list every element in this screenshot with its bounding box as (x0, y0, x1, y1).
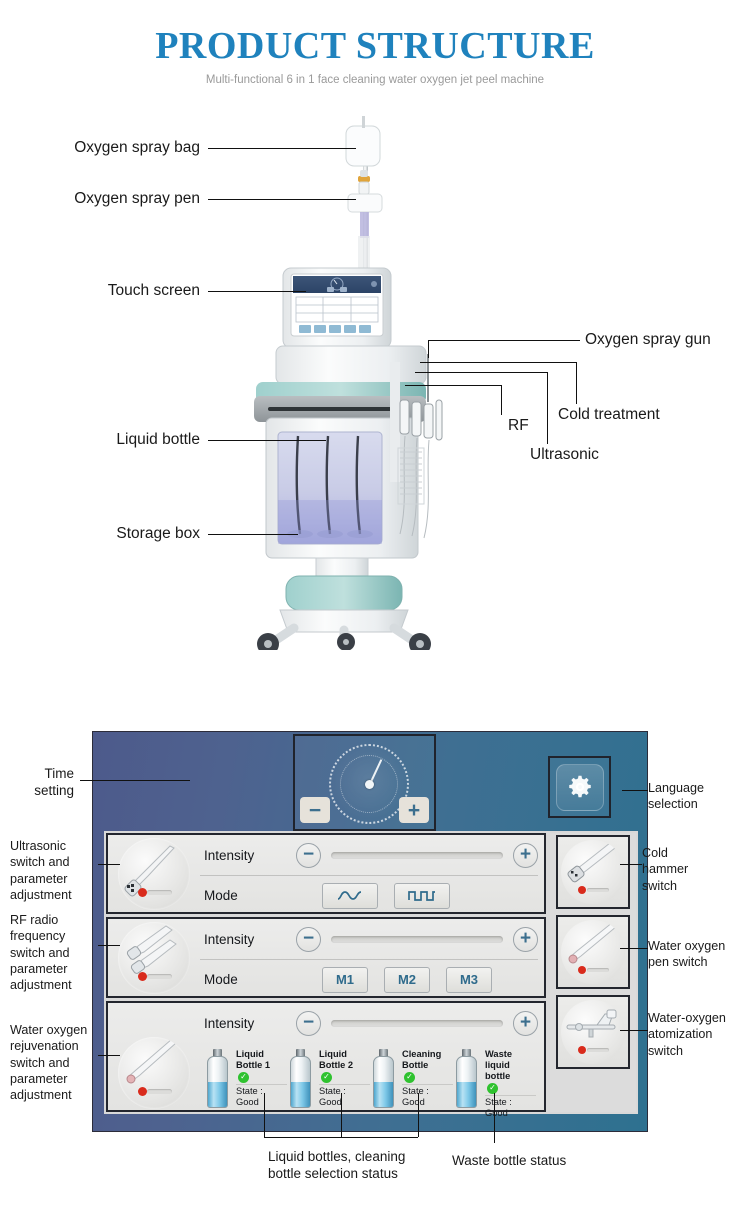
ultrasonic-switch-knob[interactable] (118, 838, 190, 910)
leader-bottle-2-v (341, 1093, 342, 1137)
bottle-name: Liquid Bottle 2 (319, 1049, 370, 1071)
language-selection-group (548, 756, 611, 818)
water-oxygen-atomization-switch-button[interactable] (556, 995, 630, 1069)
bottle-fill (457, 1082, 476, 1107)
diagram-label-storage-box: Storage box (10, 524, 200, 544)
ultrasonic-mode-sine-button[interactable] (322, 883, 378, 909)
bottle-name: Waste liquid bottle (485, 1049, 536, 1082)
panel-annotation-rf-switch: RF radio frequency switch and parameter … (10, 912, 102, 994)
ultrasonic-intensity-row: Intensity − + (200, 835, 538, 875)
bottle-status-group: Liquid Bottle 1 ✓ State : Good (200, 1049, 540, 1108)
bottle-graphic (453, 1049, 480, 1108)
rf-switch-knob[interactable] (118, 922, 190, 994)
panel-annotation-bottle-selection-status: Liquid bottles, cleaning bottle selectio… (268, 1148, 448, 1183)
knob-slot (147, 890, 172, 895)
panel-annotation-water-oxygen-switch: Water oxygen rejuvenation switch and par… (10, 1022, 102, 1104)
water-oxygen-switch-knob[interactable] (118, 1037, 190, 1109)
water-oxygen-intensity-row: Intensity − + (200, 1003, 538, 1043)
time-decrease-button[interactable]: − (300, 797, 330, 823)
language-selection-button[interactable] (556, 764, 604, 811)
knob-indicator-dot (138, 1087, 147, 1096)
knob-slot (587, 888, 609, 892)
water-oxygen-pen-knob (561, 920, 625, 984)
water-oxygen-intensity-label: Intensity (200, 1016, 296, 1031)
cold-hammer-knob (561, 840, 625, 904)
leader-oxygen-spray-bag (208, 148, 356, 149)
cold-hammer-handpiece-icon (561, 840, 625, 904)
leader-touch-screen (208, 291, 306, 292)
leader-language-selection (622, 790, 648, 791)
knob-indicator-dot (578, 886, 586, 894)
leader-ultrasonic-v (547, 372, 548, 444)
rf-intensity-label: Intensity (200, 932, 296, 947)
bottle-body (207, 1056, 228, 1108)
dial-hub (365, 780, 374, 789)
leader-cleaning-bottle-v (418, 1093, 419, 1137)
bottle-graphic (204, 1049, 231, 1108)
panel-annotation-ultrasonic-switch: Ultrasonic switch and parameter adjustme… (10, 838, 102, 903)
rf-intensity-row: Intensity − + (200, 919, 538, 959)
knob-slot (587, 1048, 609, 1052)
leader-cold-hammer-switch (620, 864, 642, 865)
leader-rf-h (405, 385, 501, 386)
rf-mode-label: Mode (200, 972, 296, 987)
bottle-graphic (370, 1049, 397, 1108)
bottle-fill (374, 1082, 393, 1107)
cold-hammer-switch-button[interactable] (556, 835, 630, 909)
panel-footer (93, 1112, 649, 1131)
bottle-body (373, 1056, 394, 1108)
rf-mode-row: Mode M1 M2 M3 (200, 959, 538, 999)
ultrasonic-intensity-increase[interactable]: + (513, 843, 538, 868)
leader-storage-box (208, 534, 298, 535)
rf-handpieces-icon (118, 922, 190, 994)
time-increase-button[interactable]: + (399, 797, 429, 823)
time-setting-group: − + (293, 734, 436, 831)
bottle-fill (208, 1082, 227, 1107)
page-title: PRODUCT STRUCTURE (0, 24, 750, 68)
leader-oxygen-spray-gun-v (428, 340, 429, 358)
knob-indicator-dot (138, 888, 147, 897)
water-oxygen-pen-icon (561, 920, 625, 984)
bottle-graphic (287, 1049, 314, 1108)
knob-indicator-dot (138, 972, 147, 981)
panel-body: Intensity − + Mode (104, 831, 638, 1114)
bottle-body (290, 1056, 311, 1108)
square-wave-icon (407, 888, 437, 904)
bottle-body (456, 1056, 477, 1108)
ultrasonic-intensity-decrease[interactable]: − (296, 843, 321, 868)
bottle-state: State : Good (319, 1084, 370, 1108)
diagram-label-oxygen-spray-bag: Oxygen spray bag (10, 138, 200, 158)
water-oxygen-pen-switch-button[interactable] (556, 915, 630, 989)
bottle-state: State : Good (236, 1084, 287, 1108)
rf-mode-m1-button[interactable]: M1 (322, 967, 368, 993)
leader-atomization-switch (620, 1030, 648, 1031)
ultrasonic-mode-row: Mode (200, 875, 538, 915)
leader-cold-treatment-v (576, 362, 577, 404)
leader-rf-v (501, 385, 502, 415)
panel-annotation-atomization-switch: Water-oxygen atomization switch (648, 1010, 748, 1059)
atomization-spray-gun-icon (561, 1000, 625, 1064)
device-ui-panel: − + (92, 731, 648, 1132)
diagram-label-ultrasonic: Ultrasonic (530, 445, 599, 465)
panel-annotation-cold-hammer-switch: Cold hammer switch (642, 845, 742, 894)
diagram-label-touch-screen: Touch screen (10, 281, 200, 301)
rf-mode-m3-button[interactable]: M3 (446, 967, 492, 993)
leader-waste-bottle-v (494, 1093, 495, 1143)
ultrasonic-mode-square-button[interactable] (394, 883, 450, 909)
rf-intensity-slider[interactable] (331, 936, 503, 943)
bottle-name: Liquid Bottle 1 (236, 1049, 287, 1071)
right-switch-column (550, 833, 636, 1112)
control-row-rf: Intensity − + Mode M1 M2 M3 (106, 917, 546, 998)
diagram-label-liquid-bottle: Liquid bottle (10, 430, 200, 450)
knob-slot (147, 1089, 172, 1094)
bottle-status-cleaning-bottle[interactable]: Cleaning Bottle ✓ State : Good (370, 1049, 453, 1108)
diagram-label-cold-treatment: Cold treatment (558, 405, 660, 425)
leader-bottle-1-v (264, 1093, 265, 1137)
bottle-ok-check-icon: ✓ (404, 1072, 415, 1083)
leader-water-oxygen-pen-switch (620, 948, 648, 949)
control-rows: Intensity − + Mode (106, 833, 546, 1112)
control-row-water-oxygen: Intensity − + (106, 1001, 546, 1112)
leader-rf-switch (98, 945, 120, 946)
ultrasonic-intensity-label: Intensity (200, 848, 296, 863)
bottle-ok-check-icon: ✓ (321, 1072, 332, 1083)
panel-annotation-time-setting: Time setting (0, 765, 74, 800)
knob-slot (147, 974, 172, 979)
diagram-label-oxygen-spray-pen: Oxygen spray pen (10, 189, 200, 209)
knob-slot (587, 968, 609, 972)
rf-intensity-decrease[interactable]: − (296, 927, 321, 952)
leader-bottle-selection-h (264, 1137, 418, 1138)
leader-liquid-bottle (208, 440, 326, 441)
leader-oxygen-spray-gun-h (428, 340, 580, 341)
bottle-state: State : Good (402, 1084, 453, 1108)
panel-header: − + (93, 732, 649, 832)
ultrasonic-handpiece-icon (118, 838, 190, 910)
knob-indicator-dot (578, 966, 586, 974)
time-dial[interactable] (329, 744, 409, 824)
water-oxygen-pen-icon (118, 1037, 190, 1109)
bottle-fill (291, 1082, 310, 1107)
sine-wave-icon (336, 888, 364, 904)
bottle-ok-check-icon: ✓ (238, 1072, 249, 1083)
leader-water-oxygen-switch (98, 1055, 120, 1056)
panel-annotation-water-oxygen-pen-switch: Water oxygen pen switch (648, 938, 748, 971)
rf-mode-m2-button[interactable]: M2 (384, 967, 430, 993)
ultrasonic-intensity-slider[interactable] (331, 852, 503, 859)
panel-annotation-waste-bottle-status: Waste bottle status (452, 1152, 652, 1169)
water-oxygen-intensity-slider[interactable] (331, 1020, 503, 1027)
atomization-gun-knob (561, 1000, 625, 1064)
water-oxygen-intensity-increase[interactable]: + (513, 1011, 538, 1036)
water-oxygen-intensity-decrease[interactable]: − (296, 1011, 321, 1036)
leader-ultrasonic-h (415, 372, 547, 373)
leader-time-setting (80, 780, 190, 781)
page-subtitle: Multi-functional 6 in 1 face cleaning wa… (0, 74, 750, 86)
bottle-status-liquid-bottle-2[interactable]: Liquid Bottle 2 ✓ State : Good (287, 1049, 370, 1108)
bottle-name: Cleaning Bottle (402, 1049, 453, 1071)
leader-oxygen-spray-pen (208, 199, 356, 200)
leader-cold-treatment-h (420, 362, 576, 363)
leader-ultrasonic-switch (98, 864, 120, 865)
ultrasonic-mode-label: Mode (200, 888, 296, 903)
bottle-ok-check-icon: ✓ (487, 1083, 498, 1094)
diagram-label-oxygen-spray-gun: Oxygen spray gun (585, 330, 711, 350)
machine-illustration (250, 110, 480, 650)
bottle-status-liquid-bottle-1[interactable]: Liquid Bottle 1 ✓ State : Good (204, 1049, 287, 1108)
knob-indicator-dot (578, 1046, 586, 1054)
panel-annotation-language-selection: Language selection (648, 780, 748, 813)
gear-icon (567, 774, 593, 800)
diagram-label-rf: RF (508, 416, 529, 436)
rf-intensity-increase[interactable]: + (513, 927, 538, 952)
control-row-ultrasonic: Intensity − + Mode (106, 833, 546, 914)
